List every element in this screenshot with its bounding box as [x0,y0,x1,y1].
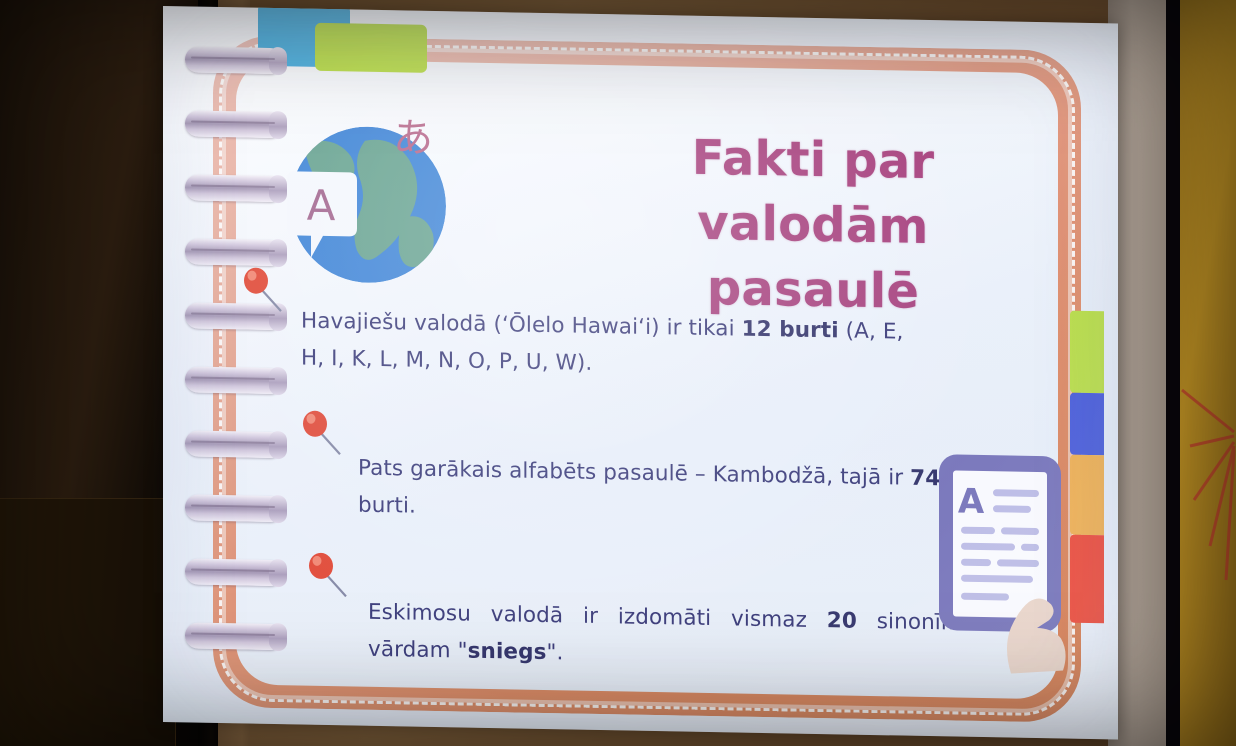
list-item: Havajiešu valodā (ʻŌlelo Hawaiʻi) ir tik… [301,304,911,389]
tab-side-blue [1070,393,1104,456]
fact-list: Havajiešu valodā (ʻŌlelo Hawaiʻi) ir tik… [253,303,1043,681]
fact-text-3: Eskimosu valodā ir izdomāti vismaz 20 si… [368,595,968,680]
presentation-slide: A あ Fakti par valodām pasaulē Havajiešu … [163,6,1118,740]
title-line-1: Fakti par [583,124,1043,197]
tab-side-green [1070,311,1104,394]
wall-decoration-lines [1180,350,1236,640]
pushpin-icon [300,409,346,456]
spiral-ring [185,238,283,266]
spiral-ring [185,174,283,202]
dictionary-tablet-icon: A [933,450,1108,678]
japanese-character: あ [393,115,433,162]
room-door-panel [0,498,176,746]
spiral-ring [185,110,283,138]
projected-slide-photo: A あ Fakti par valodām pasaulē Havajiešu … [0,0,1236,746]
fact-text-1: Havajiešu valodā (ʻŌlelo Hawaiʻi) ir tik… [301,304,911,389]
globe-language-icon: A あ [273,103,463,296]
spiral-ring-cap [269,47,287,75]
tab-green [315,23,427,73]
speech-bubble-letter: A [307,181,336,231]
fact-text-2: Pats garākais alfabēts pasaulē – Kambodž… [358,451,978,536]
list-item: Eskimosu valodā ir izdomāti vismaz 20 si… [368,595,968,680]
pushpin-icon [306,551,352,598]
tablet-letter: A [958,482,985,522]
slide-title: Fakti par valodām pasaulē [583,124,1043,327]
title-line-2: valodām pasaulē [583,188,1043,326]
list-item: Pats garākais alfabēts pasaulē – Kambodž… [358,451,978,536]
spiral-ring [185,46,283,74]
pushpin-icon [241,266,287,313]
